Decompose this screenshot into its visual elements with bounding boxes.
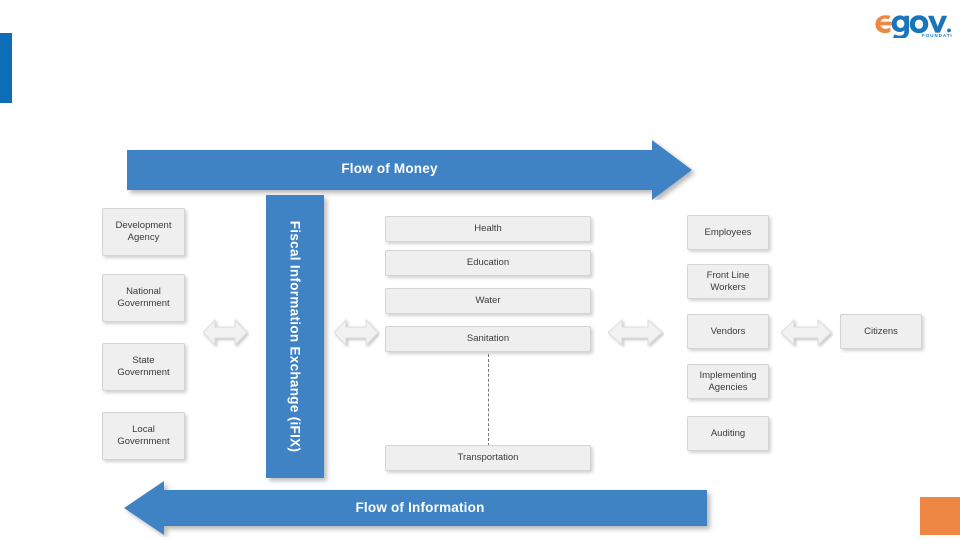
box-label: Sanitation: [467, 333, 509, 345]
box-label: Education: [467, 257, 509, 269]
box-education[interactable]: Education: [385, 250, 591, 276]
box-label: Water: [476, 295, 501, 307]
box-front-line-workers[interactable]: Front LineWorkers: [687, 264, 769, 299]
box-citizens[interactable]: Citizens: [840, 314, 922, 349]
double-arrow-ifix-to-sectors: [334, 318, 380, 348]
box-health[interactable]: Health: [385, 216, 591, 242]
slide-canvas: FOUNDATION Flow of Money Flow of Informa…: [0, 0, 960, 540]
egov-foundation-logo: FOUNDATION: [872, 8, 952, 38]
box-auditing[interactable]: Auditing: [687, 416, 769, 451]
box-water[interactable]: Water: [385, 288, 591, 314]
ifix-central-bar[interactable]: Fiscal Information Exchange (iFIX): [266, 195, 324, 478]
ifix-label: Fiscal Information Exchange (iFIX): [288, 221, 303, 453]
box-state-government[interactable]: StateGovernment: [102, 343, 185, 391]
box-vendors[interactable]: Vendors: [687, 314, 769, 349]
double-arrow-sectors-to-actors: [608, 318, 664, 348]
accent-block-right: [920, 497, 960, 535]
box-employees[interactable]: Employees: [687, 215, 769, 250]
box-implementing-agencies[interactable]: ImplementingAgencies: [687, 364, 769, 399]
box-label: Auditing: [711, 428, 745, 440]
box-label: ImplementingAgencies: [699, 370, 756, 394]
box-development-agency[interactable]: DevelopmentAgency: [102, 208, 185, 256]
accent-bar-left: [0, 33, 12, 103]
box-transportation[interactable]: Transportation: [385, 445, 591, 471]
box-local-government[interactable]: LocalGovernment: [102, 412, 185, 460]
box-label: Citizens: [864, 326, 898, 338]
box-label: StateGovernment: [117, 355, 169, 379]
box-label: NationalGovernment: [117, 286, 169, 310]
sector-ellipsis-dashed-line: [488, 354, 489, 446]
flow-of-money-label: Flow of Money: [127, 161, 652, 176]
box-label: LocalGovernment: [117, 424, 169, 448]
box-national-government[interactable]: NationalGovernment: [102, 274, 185, 322]
svg-text:FOUNDATION: FOUNDATION: [922, 33, 952, 38]
box-label: Employees: [705, 227, 752, 239]
double-arrow-actors-to-citizens: [781, 318, 833, 348]
flow-of-information-label: Flow of Information: [164, 500, 676, 515]
box-label: DevelopmentAgency: [116, 220, 172, 244]
double-arrow-funders-to-ifix: [203, 318, 249, 348]
box-label: Front LineWorkers: [707, 270, 750, 294]
box-label: Health: [474, 223, 501, 235]
box-label: Transportation: [458, 452, 519, 464]
box-label: Vendors: [711, 326, 746, 338]
box-sanitation[interactable]: Sanitation: [385, 326, 591, 352]
